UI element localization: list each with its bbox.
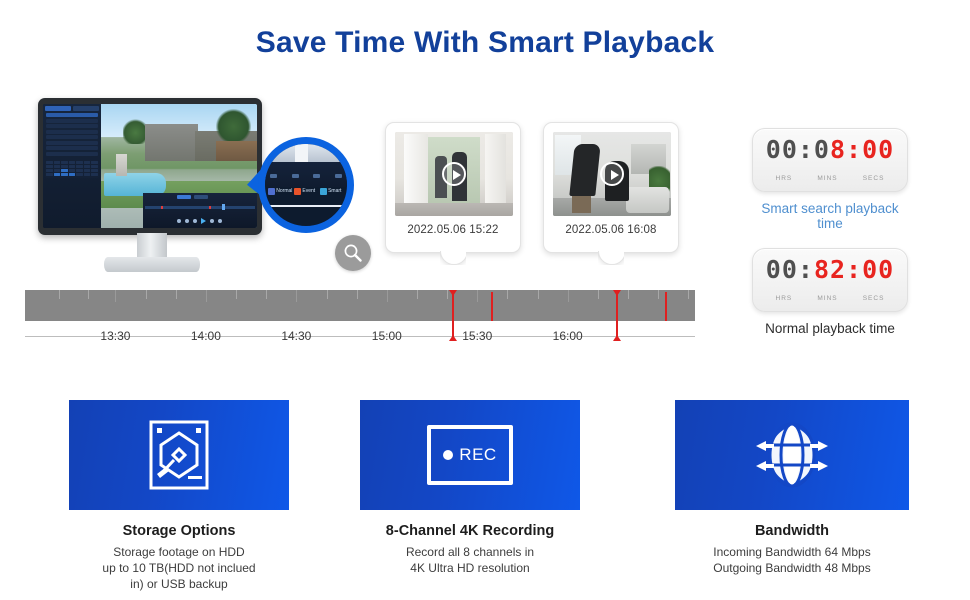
legend-label-event: Event	[302, 189, 315, 194]
nvr-timeline[interactable]	[145, 206, 255, 209]
zoom-tick	[292, 174, 299, 178]
timeline-tick	[628, 290, 629, 299]
playback-timeline[interactable]: 13:30 14:00 14:30 15:00 15:30 16:00	[25, 290, 695, 352]
timeline-label: 16:00	[553, 329, 583, 343]
zoom-progress-line	[270, 205, 342, 207]
event-timestamp: 2022.05.06 15:22	[395, 224, 511, 236]
feature-banner: REC	[360, 400, 580, 510]
timer-digits-dark: 00:0	[766, 135, 830, 164]
timeline-tick	[598, 290, 599, 299]
marker-arrow-bottom-icon	[613, 335, 621, 341]
timeline-tick	[477, 290, 478, 302]
feature-card-recording: REC 8-Channel 4K Recording Record all 8 …	[360, 400, 580, 576]
timeline-label: 14:00	[191, 329, 221, 343]
timer-display: 00:82:00 HRS MINS SECS	[752, 248, 908, 312]
nvr-calendar-cell	[91, 173, 98, 176]
nvr-channel-item	[46, 141, 98, 145]
timer-unit-secs: SECS	[863, 295, 885, 302]
normal-playback-timer: 00:82:00 HRS MINS SECS Normal playback t…	[752, 248, 908, 336]
nvr-channel-item	[46, 135, 98, 139]
feature-description: Record all 8 channels in 4K Ultra HD res…	[360, 544, 580, 576]
nvr-icon[interactable]	[177, 219, 181, 223]
nvr-calendar-row	[46, 173, 98, 176]
timeline-tick	[236, 290, 237, 299]
timer-digits-red: 8:00	[830, 135, 894, 164]
timeline-event-tick	[491, 292, 493, 321]
nvr-channel-item	[46, 113, 98, 117]
timeline-label: 13:30	[100, 329, 130, 343]
scene-person	[569, 144, 600, 196]
nvr-calendar-cell	[91, 169, 98, 172]
globe-bandwidth-icon	[754, 420, 830, 490]
timer-unit-mins: MINS	[817, 175, 837, 182]
scene-palm	[216, 109, 250, 141]
timer-digits-red: 82:00	[814, 255, 894, 284]
nvr-calendar-cell	[61, 161, 68, 164]
feature-title: 8-Channel 4K Recording	[360, 523, 580, 539]
timer-unit-secs: SECS	[863, 175, 885, 182]
feature-card-storage: Storage Options Storage footage on HDD u…	[69, 400, 289, 593]
nvr-channel-item	[46, 146, 98, 150]
monitor-screen	[43, 104, 257, 228]
nvr-chip-normal	[177, 195, 191, 199]
marker-arrow-top-icon	[613, 290, 621, 296]
rec-dot-icon	[443, 450, 453, 460]
nvr-calendar-cell	[46, 165, 53, 168]
timer-unit-mins: MINS	[817, 295, 837, 302]
timeline-tick	[176, 290, 177, 299]
timeline-tick	[146, 290, 147, 299]
event-thumbnail-card[interactable]: 2022.05.06 15:22	[385, 122, 521, 253]
nvr-calendar-cell	[54, 173, 61, 176]
legend-item-event: Event	[294, 188, 318, 195]
nvr-calendar-cell	[76, 161, 83, 164]
nvr-channel-item	[46, 124, 98, 128]
zoom-timeline-ticks	[270, 174, 342, 178]
timer-digits: 00:08:00	[753, 137, 907, 162]
timer-digits: 00:82:00	[753, 257, 907, 282]
timeline-event-marker[interactable]	[452, 292, 454, 340]
timeline-tick	[688, 290, 689, 299]
play-icon[interactable]	[600, 162, 624, 186]
feature-description: Storage footage on HDD up to 10 TB(HDD n…	[69, 544, 289, 593]
legend-label-normal: Normal	[276, 189, 292, 194]
nvr-calendar-row	[46, 165, 98, 168]
zoom-tick	[335, 174, 342, 178]
timer-unit-labels: HRS MINS SECS	[763, 295, 897, 302]
timer-unit-labels: HRS MINS SECS	[763, 175, 897, 182]
nvr-calendar-cell	[46, 173, 53, 176]
nvr-calendar-cell	[91, 161, 98, 164]
nvr-monitor	[34, 98, 270, 283]
legend-label-smart: Smart	[328, 189, 341, 194]
monitor-stand-neck	[137, 233, 167, 260]
nvr-calendar-cell	[84, 169, 91, 172]
nvr-calendar-cell	[76, 173, 83, 176]
legend-swatch-normal	[268, 188, 275, 195]
page-title: Save Time With Smart Playback	[0, 26, 970, 60]
playback-type-legend: Normal Event Smart	[268, 188, 343, 195]
timeline-tick	[658, 290, 659, 299]
hard-drive-icon	[148, 419, 210, 491]
timeline-tick	[447, 290, 448, 299]
feature-banner	[675, 400, 909, 510]
timeline-label: 15:00	[372, 329, 402, 343]
timeline-tick	[88, 290, 89, 299]
nvr-tab-device	[45, 106, 71, 111]
nvr-calendar-cell	[76, 169, 83, 172]
nvr-calendar-row	[46, 161, 98, 164]
timeline-tick	[417, 290, 418, 299]
rec-label: REC	[459, 445, 496, 465]
timeline-bar[interactable]	[25, 290, 695, 321]
nvr-tab-record	[73, 106, 99, 111]
timeline-tick	[357, 290, 358, 299]
nvr-chip-event	[194, 195, 208, 199]
feature-title: Bandwidth	[675, 523, 909, 539]
nvr-calendar-cell	[84, 173, 91, 176]
nvr-timeline-event	[209, 206, 211, 209]
nvr-calendar-cell	[69, 173, 76, 176]
nvr-calendar-cell	[61, 173, 68, 176]
timeline-label: 14:30	[281, 329, 311, 343]
legend-swatch-event	[294, 188, 301, 195]
monitor-stand-base	[104, 257, 200, 272]
nvr-calendar-cell	[61, 169, 68, 172]
nvr-calendar-cell	[69, 161, 76, 164]
nvr-channel-sidebar	[43, 104, 101, 228]
timeline-zoom-callout: Normal Event Smart	[258, 137, 354, 233]
nvr-icon[interactable]	[185, 219, 189, 223]
nvr-calendar-cell	[54, 169, 61, 172]
legend-swatch-smart	[320, 188, 327, 195]
feature-description: Incoming Bandwidth 64 Mbps Outgoing Band…	[675, 544, 909, 576]
feature-card-bandwidth: Bandwidth Incoming Bandwidth 64 Mbps Out…	[675, 400, 909, 576]
nvr-calendar-cell	[54, 165, 61, 168]
timeline-tick	[296, 290, 297, 302]
scene-curtain	[485, 134, 506, 211]
nvr-calendar-cell	[46, 169, 53, 172]
scene-sofa	[626, 187, 668, 212]
legend-item-normal: Normal	[268, 188, 292, 195]
event-timestamp: 2022.05.06 16:08	[553, 224, 669, 236]
nvr-sidebar-tabs	[45, 106, 99, 111]
nvr-timeline-cursor[interactable]	[222, 204, 225, 210]
zoom-video-strip	[265, 144, 347, 162]
timer-display: 00:08:00 HRS MINS SECS	[752, 128, 908, 192]
rec-icon: REC	[427, 425, 513, 485]
timeline-tick	[327, 290, 328, 299]
nvr-legend-chips	[177, 195, 208, 199]
event-thumbnail-card[interactable]: 2022.05.06 16:08	[543, 122, 679, 253]
smart-search-timer: 00:08:00 HRS MINS SECS Smart search play…	[752, 128, 908, 231]
timer-unit-hrs: HRS	[776, 295, 793, 302]
feature-title: Storage Options	[69, 523, 289, 539]
timeline-tick	[568, 290, 569, 302]
scene-floor	[395, 203, 513, 216]
zoom-tick	[313, 174, 320, 178]
timeline-tick	[507, 290, 508, 299]
timer-unit-hrs: HRS	[776, 175, 793, 182]
timeline-tick	[387, 290, 388, 302]
nvr-calendar-cell	[61, 165, 68, 168]
timeline-tick	[59, 290, 60, 299]
callout-tail	[440, 251, 466, 265]
nvr-calendar-cell	[84, 165, 91, 168]
zoom-tick	[270, 174, 277, 178]
event-thumbnail-image[interactable]	[553, 132, 671, 216]
timeline-tick	[206, 290, 207, 302]
nvr-calendar-cell	[84, 161, 91, 164]
nvr-calendar-cell	[76, 165, 83, 168]
play-icon[interactable]	[442, 162, 466, 186]
timeline-event-marker[interactable]	[616, 292, 618, 340]
nvr-transport-icons	[143, 217, 257, 226]
timeline-label: 15:30	[462, 329, 492, 343]
timeline-tick	[115, 290, 116, 302]
timer-digits-dark: 00:	[766, 255, 814, 284]
nvr-calendar-cell	[46, 161, 53, 164]
callout-tail	[598, 251, 624, 265]
timeline-tick	[538, 290, 539, 299]
nvr-calendar	[45, 160, 99, 178]
timeline-tick	[266, 290, 267, 299]
event-thumbnail-image[interactable]	[395, 132, 513, 216]
scene-planter	[116, 154, 127, 176]
play-icon[interactable]	[201, 218, 206, 224]
nvr-playback-controls	[143, 193, 257, 228]
timer-caption: Normal playback time	[752, 321, 908, 336]
feature-banner	[69, 400, 289, 510]
nvr-timeline-event	[161, 206, 163, 209]
nvr-calendar-cell	[91, 165, 98, 168]
search-icon	[335, 235, 371, 271]
nvr-calendar-row	[46, 169, 98, 172]
legend-item-smart: Smart	[320, 188, 344, 195]
nvr-channel-item	[46, 130, 98, 134]
scene-wall	[145, 124, 198, 161]
nvr-calendar-cell	[69, 165, 76, 168]
nvr-icon[interactable]	[218, 219, 222, 223]
marker-arrow-top-icon	[449, 290, 457, 296]
nvr-icon[interactable]	[210, 219, 214, 223]
scene-fence	[216, 141, 257, 161]
timeline-event-tick	[665, 292, 667, 321]
nvr-channel-item	[46, 119, 98, 123]
nvr-calendar-cell	[54, 161, 61, 164]
monitor-bezel	[38, 98, 262, 235]
marker-arrow-bottom-icon	[449, 335, 457, 341]
nvr-channel-item	[46, 152, 98, 156]
nvr-icon[interactable]	[193, 219, 197, 223]
nvr-live-view	[101, 104, 257, 228]
scene-curtain	[404, 134, 428, 211]
timer-caption: Smart search playback time	[752, 201, 908, 231]
nvr-calendar-cell	[69, 169, 76, 172]
